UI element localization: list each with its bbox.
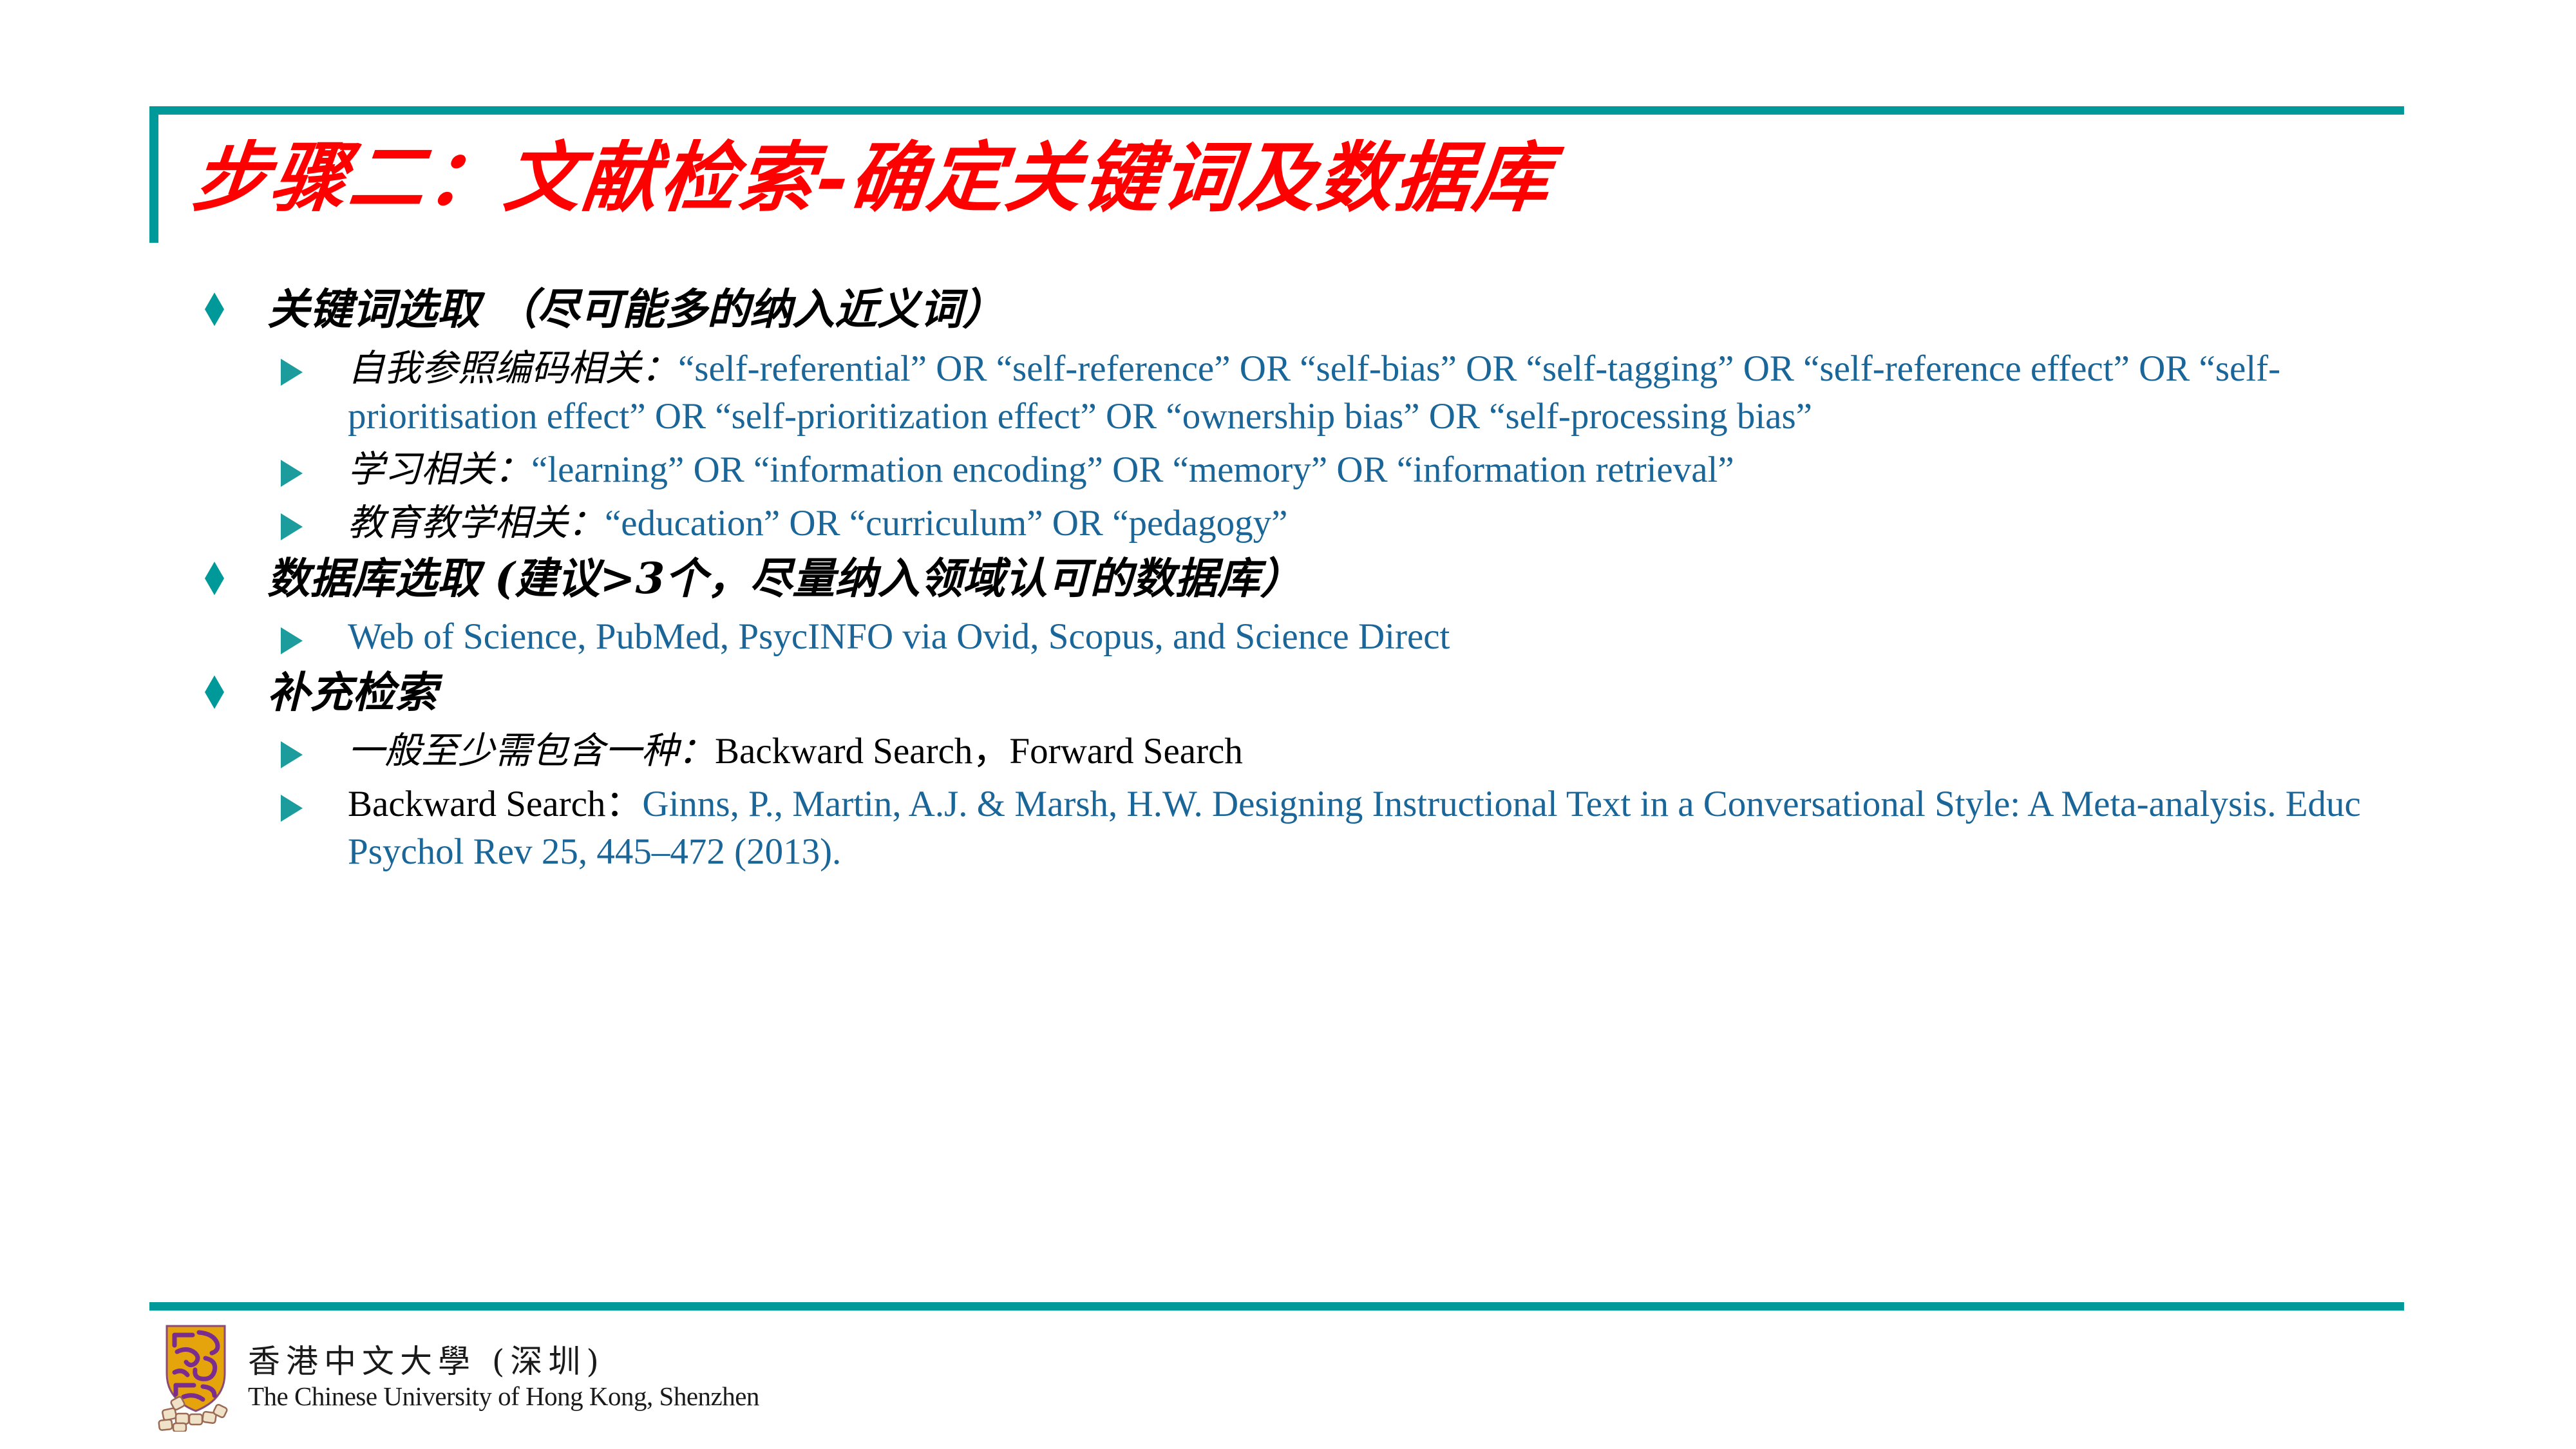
- section3-heading: 补充检索: [267, 667, 437, 717]
- bullet-level1-databases: 数据库选取 (建议>3个，尽量纳入领域认可的数据库）: [155, 553, 2421, 605]
- sub-bullet-database-list: Web of Science, PubMed, PsycINFO via Ovi…: [155, 613, 2421, 661]
- section1-heading: 关键词选取 （尽可能多的纳入近义词）: [267, 284, 1005, 334]
- title-rule-left: [149, 106, 158, 243]
- sub-bullet-backward-search-citation: Backward Search：Ginns, P., Martin, A.J. …: [155, 781, 2421, 876]
- cuhk-crest-icon: [158, 1323, 234, 1432]
- sub-bullet-education: 教育教学相关：“education” OR “curriculum” OR “p…: [155, 499, 2421, 547]
- diamond-bullet-icon: [205, 676, 224, 709]
- sub-bullet-value: Ginns, P., Martin, A.J. & Marsh, H.W. De…: [348, 784, 2361, 872]
- sub-bullet-learning: 学习相关：“learning” OR “information encoding…: [155, 446, 2421, 494]
- footer-rule: [149, 1302, 2404, 1311]
- sub-bullet-label: 自我参照编码相关：: [348, 347, 678, 390]
- arrow-bullet-icon: [281, 460, 303, 487]
- bullet-level1-supplementary: 补充检索: [155, 667, 2421, 719]
- university-name-cn: 香港中文大學 (深圳): [248, 1343, 759, 1381]
- sub-bullet-label: 学习相关：: [348, 448, 531, 491]
- page-title: 步骤二：文献检索-确定关键词及数据库: [189, 135, 1556, 220]
- sub-bullet-self-reference: 自我参照编码相关：“self-referential” OR “self-ref…: [155, 345, 2421, 440]
- arrow-bullet-icon: [281, 627, 303, 654]
- sub-bullet-value: “learning” OR “information encoding” OR …: [531, 450, 1734, 490]
- sub-bullet-label: 教育教学相关：: [348, 502, 605, 544]
- arrow-bullet-icon: [281, 513, 303, 540]
- diamond-bullet-icon: [205, 562, 224, 595]
- arrow-bullet-icon: [281, 741, 303, 768]
- bullet-level1-keywords: 关键词选取 （尽可能多的纳入近义词）: [155, 283, 2421, 336]
- diamond-bullet-icon: [205, 292, 224, 326]
- section2-heading: 数据库选取 (建议>3个，尽量纳入领域认可的数据库）: [267, 553, 1302, 603]
- arrow-bullet-icon: [281, 795, 303, 822]
- university-logo: 香港中文大學 (深圳) The Chinese University of Ho…: [158, 1323, 759, 1432]
- sub-bullet-label: 一般至少需包含一种：: [348, 730, 715, 772]
- university-logo-text: 香港中文大學 (深圳) The Chinese University of Ho…: [248, 1343, 759, 1412]
- university-name-en: The Chinese University of Hong Kong, She…: [248, 1381, 759, 1412]
- sub-bullet-value: Web of Science, PubMed, PsycINFO via Ovi…: [348, 616, 1450, 657]
- sub-bullet-value: “education” OR “curriculum” OR “pedagogy…: [605, 503, 1287, 544]
- sub-bullet-search-types: 一般至少需包含一种：Backward Search，Forward Search: [155, 727, 2421, 775]
- slide-canvas: 步骤二：文献检索-确定关键词及数据库 关键词选取 （尽可能多的纳入近义词） 自我…: [0, 0, 2576, 1449]
- title-rule-top: [149, 106, 2404, 115]
- slide-body: 关键词选取 （尽可能多的纳入近义词） 自我参照编码相关：“self-refere…: [155, 283, 2421, 881]
- sub-bullet-value: Backward Search，Forward Search: [715, 731, 1243, 772]
- sub-bullet-label: Backward Search：: [348, 784, 642, 824]
- arrow-bullet-icon: [281, 359, 303, 386]
